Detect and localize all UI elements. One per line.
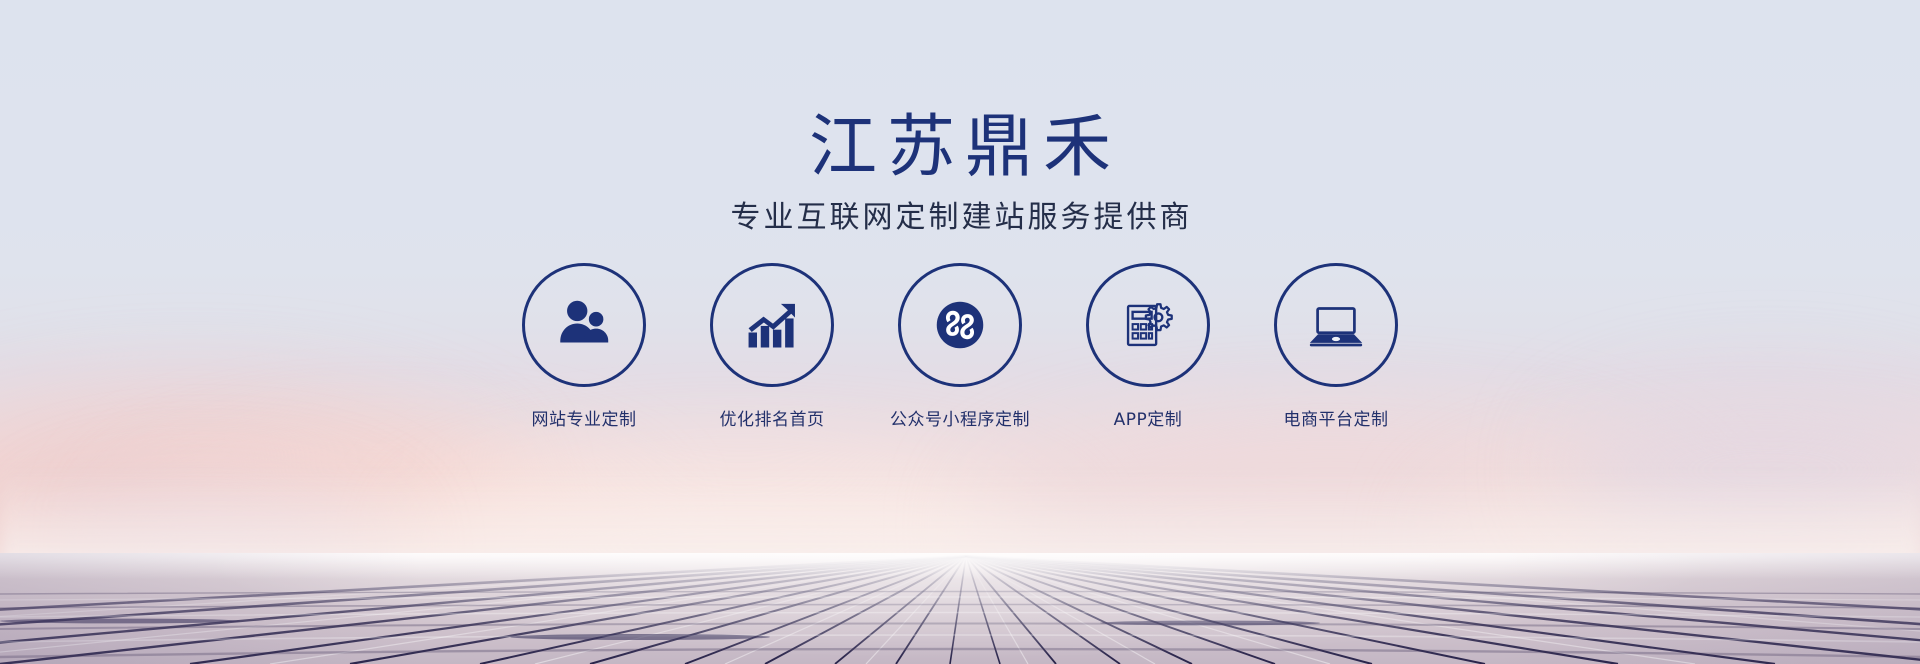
feature-list: 网站专业定制 优化排名首页 xyxy=(0,263,1920,429)
two-people-icon xyxy=(553,294,615,356)
feature-icon-circle[interactable] xyxy=(898,263,1022,387)
feature-icon-circle[interactable] xyxy=(1274,263,1398,387)
feature-item-seo-ranking[interactable]: 优化排名首页 xyxy=(710,263,834,429)
feature-item-website-customization[interactable]: 网站专业定制 xyxy=(522,263,646,429)
feature-item-miniprogram[interactable]: 公众号小程序定制 xyxy=(898,263,1022,429)
feature-icon-circle[interactable] xyxy=(710,263,834,387)
growth-bar-chart-arrow-icon xyxy=(742,295,802,355)
feature-icon-circle[interactable] xyxy=(522,263,646,387)
deck-vignette xyxy=(0,553,1920,664)
banner-content: 江苏鼎禾 专业互联网定制建站服务提供商 网站专业定制 xyxy=(0,0,1920,429)
laptop-icon xyxy=(1305,294,1367,356)
page-title: 江苏鼎禾 xyxy=(0,0,1920,188)
feature-label: 网站专业定制 xyxy=(532,412,637,429)
phone-gear-icon xyxy=(1119,296,1177,354)
feature-label: APP定制 xyxy=(1114,412,1183,429)
feature-label: 公众号小程序定制 xyxy=(890,412,1030,429)
wooden-deck-background xyxy=(0,553,1920,664)
wechat-miniprogram-icon xyxy=(929,294,991,356)
feature-label: 优化排名首页 xyxy=(720,412,825,429)
page-subtitle: 专业互联网定制建站服务提供商 xyxy=(0,198,1920,237)
hero-banner: 江苏鼎禾 专业互联网定制建站服务提供商 网站专业定制 xyxy=(0,0,1920,664)
feature-icon-circle[interactable] xyxy=(1086,263,1210,387)
feature-item-app-development[interactable]: APP定制 xyxy=(1086,263,1210,429)
feature-label: 电商平台定制 xyxy=(1284,412,1389,429)
feature-item-ecommerce-platform[interactable]: 电商平台定制 xyxy=(1274,263,1398,429)
